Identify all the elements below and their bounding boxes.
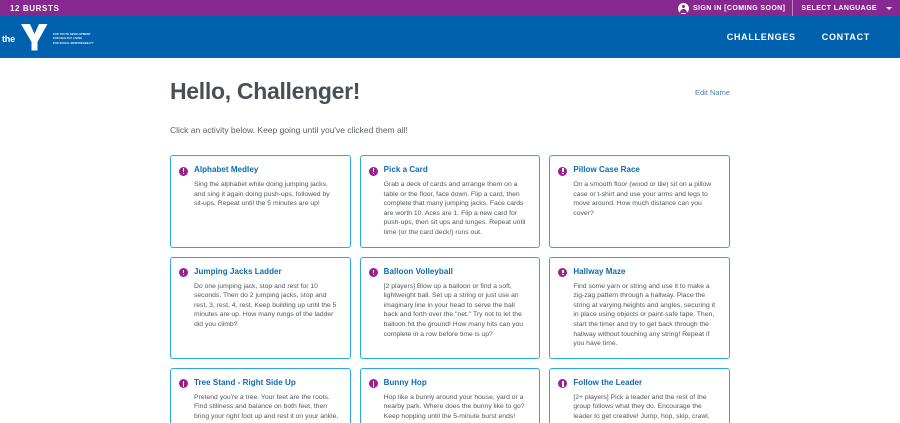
activity-card-body: Hallway Maze Find some yarn or string an…: [573, 267, 719, 349]
bursts-count-label: 12 BURSTS: [10, 4, 59, 13]
activity-card-title: Bunny Hop: [384, 378, 530, 388]
select-language-dropdown[interactable]: SELECT LANGUAGE: [793, 5, 892, 12]
page-header-row: Hello, Challenger! Edit Name: [170, 78, 730, 104]
logo-tagline-line-3: FOR SOCIAL RESPONSIBILITY: [53, 42, 94, 45]
nav-link-challenges[interactable]: CHALLENGES: [727, 32, 796, 42]
logo-y-mark: [20, 22, 48, 52]
activity-card-body: Tree Stand - Right Side Up Pretend you'r…: [194, 378, 340, 423]
activity-card-body: Alphabet Medley Sing the alphabet while …: [194, 165, 340, 238]
activity-card-body: Pick a Card Grab a deck of cards and arr…: [384, 165, 530, 238]
activity-card-description: Do one jumping jack, stop and rest for 1…: [194, 282, 340, 330]
activity-card-description: Sing the alphabet while doing jumping ja…: [194, 180, 340, 209]
sign-in-button[interactable]: SIGN IN [COMING SOON]: [678, 0, 793, 16]
activity-card[interactable]: Follow the Leader [2+ players] Pick a le…: [549, 368, 730, 423]
activity-card-body: Pillow Case Race On a smooth floor (wood…: [573, 165, 719, 238]
activity-card-description: Hop like a bunny around your house, yard…: [384, 393, 530, 422]
activity-card[interactable]: Pillow Case Race On a smooth floor (wood…: [549, 155, 730, 248]
page-title: Hello, Challenger!: [170, 78, 360, 104]
exclamation-circle-icon: [179, 268, 188, 277]
exclamation-circle-icon: [179, 379, 188, 388]
ymca-logo[interactable]: the FOR YOUTH DEVELOPMENT FOR HEALTHY LI…: [0, 22, 94, 52]
utility-bar: 12 BURSTS SIGN IN [COMING SOON] SELECT L…: [0, 0, 900, 16]
activity-card-description: Find some yarn or string and use it to m…: [573, 282, 719, 349]
page-subtitle: Click an activity below. Keep going unti…: [170, 124, 730, 136]
activity-card-title: Hallway Maze: [573, 267, 719, 277]
nav-links: CHALLENGES CONTACT: [727, 32, 870, 42]
logo-the-text: the: [2, 34, 15, 44]
activity-card[interactable]: Alphabet Medley Sing the alphabet while …: [170, 155, 351, 248]
select-language-label: SELECT LANGUAGE: [801, 5, 877, 12]
logo-tagline: FOR YOUTH DEVELOPMENT FOR HEALTHY LIVING…: [53, 30, 94, 45]
activity-card[interactable]: Balloon Volleyball [2 players] Blow up a…: [360, 257, 541, 359]
exclamation-circle-icon: [558, 167, 567, 176]
activity-card[interactable]: Hallway Maze Find some yarn or string an…: [549, 257, 730, 359]
exclamation-circle-icon: [369, 268, 378, 277]
exclamation-circle-icon: [369, 379, 378, 388]
exclamation-circle-icon: [369, 167, 378, 176]
activity-card-title: Pillow Case Race: [573, 165, 719, 175]
activity-card[interactable]: Tree Stand - Right Side Up Pretend you'r…: [170, 368, 351, 423]
activity-card-title: Follow the Leader: [573, 378, 719, 388]
activity-card-body: Jumping Jacks Ladder Do one jumping jack…: [194, 267, 340, 349]
activity-card-title: Tree Stand - Right Side Up: [194, 378, 340, 388]
activity-card-body: Balloon Volleyball [2 players] Blow up a…: [384, 267, 530, 349]
activity-card-title: Jumping Jacks Ladder: [194, 267, 340, 277]
activity-card[interactable]: Jumping Jacks Ladder Do one jumping jack…: [170, 257, 351, 359]
logo-tagline-line-1: FOR YOUTH DEVELOPMENT: [53, 33, 94, 36]
utility-bar-right: SIGN IN [COMING SOON] SELECT LANGUAGE: [678, 0, 892, 16]
edit-name-link[interactable]: Edit Name: [695, 78, 730, 97]
activity-card-description: Pretend you're a tree. Your feet are the…: [194, 393, 340, 423]
sign-in-label: SIGN IN [COMING SOON]: [693, 5, 785, 12]
person-icon: [678, 3, 689, 14]
activity-card[interactable]: Bunny Hop Hop like a bunny around your h…: [360, 368, 541, 423]
logo-tagline-line-2: FOR HEALTHY LIVING: [53, 37, 94, 40]
page-body: Hello, Challenger! Edit Name Click an ac…: [0, 58, 900, 423]
activity-card[interactable]: Pick a Card Grab a deck of cards and arr…: [360, 155, 541, 248]
activity-card-description: On a smooth floor (wood or tile) sit on …: [573, 180, 719, 218]
activity-card-body: Follow the Leader [2+ players] Pick a le…: [573, 378, 719, 423]
exclamation-circle-icon: [558, 268, 567, 277]
main-navigation-bar: the FOR YOUTH DEVELOPMENT FOR HEALTHY LI…: [0, 16, 900, 58]
nav-link-contact[interactable]: CONTACT: [822, 32, 870, 42]
activity-card-title: Balloon Volleyball: [384, 267, 530, 277]
exclamation-circle-icon: [179, 167, 188, 176]
exclamation-circle-icon: [558, 379, 567, 388]
activity-cards-grid: Alphabet Medley Sing the alphabet while …: [170, 155, 730, 423]
activity-card-title: Pick a Card: [384, 165, 530, 175]
activity-card-description: Grab a deck of cards and arrange them on…: [384, 180, 530, 238]
activity-card-description: [2 players] Blow up a balloon or find a …: [384, 282, 530, 340]
activity-card-title: Alphabet Medley: [194, 165, 340, 175]
chevron-down-icon: [886, 7, 892, 10]
activity-card-body: Bunny Hop Hop like a bunny around your h…: [384, 378, 530, 423]
content-container: Hello, Challenger! Edit Name Click an ac…: [170, 58, 730, 423]
activity-card-description: [2+ players] Pick a leader and the rest …: [573, 393, 719, 423]
